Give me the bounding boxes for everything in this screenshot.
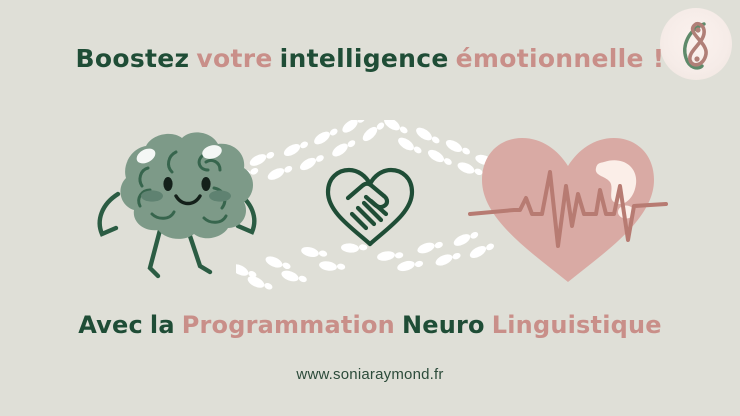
heart-heartbeat-icon	[468, 122, 668, 290]
poster-canvas: Boostez votre intelligence émotionnelle …	[0, 0, 740, 416]
website-url[interactable]: www.soniaraymond.fr	[0, 366, 740, 383]
title-word-4: émotionnelle !	[456, 44, 665, 73]
title-word-2: votre	[196, 44, 272, 73]
subtitle-word-5: Linguistique	[492, 311, 662, 339]
title-word-1: Boostez	[76, 44, 190, 73]
walking-brain-character	[88, 126, 268, 291]
page-title: Boostez votre intelligence émotionnelle …	[0, 44, 740, 73]
subtitle-word-1: Avec	[78, 311, 143, 339]
logo-dot-top	[695, 27, 700, 32]
brain-cheek-right	[209, 190, 231, 201]
brain-cheek-left	[141, 190, 163, 201]
page-subtitle: Avec la Programmation Neuro Linguistique	[0, 311, 740, 339]
heart-handshake-icon	[318, 158, 422, 250]
title-word-3: intelligence	[280, 44, 449, 73]
subtitle-word-3: Programmation	[182, 311, 395, 339]
subtitle-word-2: la	[150, 311, 175, 339]
subtitle-word-4: Neuro	[402, 311, 485, 339]
